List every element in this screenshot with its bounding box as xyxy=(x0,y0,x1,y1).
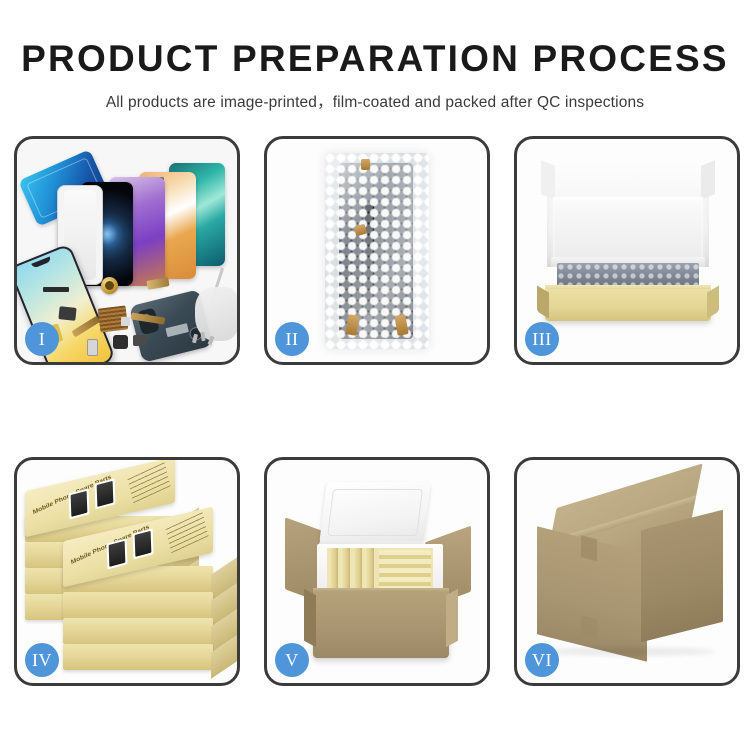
product-preparation-infographic: PRODUCT PREPARATION PROCESS All products… xyxy=(0,0,750,750)
sealed-carton xyxy=(535,488,723,654)
lid-spec-lines-top xyxy=(128,462,171,503)
packed-retail-boxes xyxy=(327,548,433,592)
adhesive-tab-top xyxy=(361,159,370,170)
page-title: PRODUCT PREPARATION PROCESS xyxy=(0,40,750,79)
header: PRODUCT PREPARATION PROCESS All products… xyxy=(0,0,750,112)
carton-shadow xyxy=(545,647,715,656)
step-badge-4: IV xyxy=(25,643,59,677)
process-step-3: III xyxy=(514,136,740,365)
yellow-box-body xyxy=(545,289,711,321)
earpiece-part xyxy=(43,287,69,292)
retail-box-front-2 xyxy=(63,592,213,618)
process-step-grid: I II xyxy=(14,136,736,686)
process-step-6: VI xyxy=(514,457,740,686)
step-badge-1: I xyxy=(25,322,59,356)
vibration-motor xyxy=(113,335,128,349)
step-badge-6: VI xyxy=(525,643,559,677)
speaker-module xyxy=(101,277,118,294)
camera-module xyxy=(58,306,76,321)
lid-window-2 xyxy=(95,478,116,509)
screws-group xyxy=(193,332,219,346)
retail-box-front-4 xyxy=(63,644,213,670)
retail-box-front-3 xyxy=(63,618,213,644)
carton-tape-bottom xyxy=(581,615,597,639)
charging-port-part xyxy=(133,335,147,346)
lid-spec-lines-second xyxy=(166,512,209,553)
box-stack: Mobile Phone Spare Parts Mobile Phone Sp… xyxy=(21,478,237,670)
carton-side-face xyxy=(641,510,723,642)
lid-window-3 xyxy=(107,538,128,569)
process-step-4: Mobile Phone Spare Parts Mobile Phone Sp… xyxy=(14,457,240,686)
page-subtitle: All products are image-printed，film-coat… xyxy=(0,90,750,112)
carton-body-open xyxy=(313,592,449,658)
small-bracket-part xyxy=(121,317,130,326)
sim-tray-part xyxy=(87,339,98,356)
lid-window-1 xyxy=(69,488,90,519)
step-badge-3: III xyxy=(525,322,559,356)
film-sheen xyxy=(325,153,429,349)
lid-window-4 xyxy=(133,528,154,559)
step-badge-2: II xyxy=(275,322,309,356)
process-step-2: II xyxy=(264,136,490,365)
process-step-1: I xyxy=(14,136,240,365)
process-step-5: V xyxy=(264,457,490,686)
foam-lid-open xyxy=(319,482,431,544)
step-badge-5: V xyxy=(275,643,309,677)
carton-tape-top xyxy=(581,535,597,561)
bubble-wrapped-part xyxy=(325,153,429,349)
